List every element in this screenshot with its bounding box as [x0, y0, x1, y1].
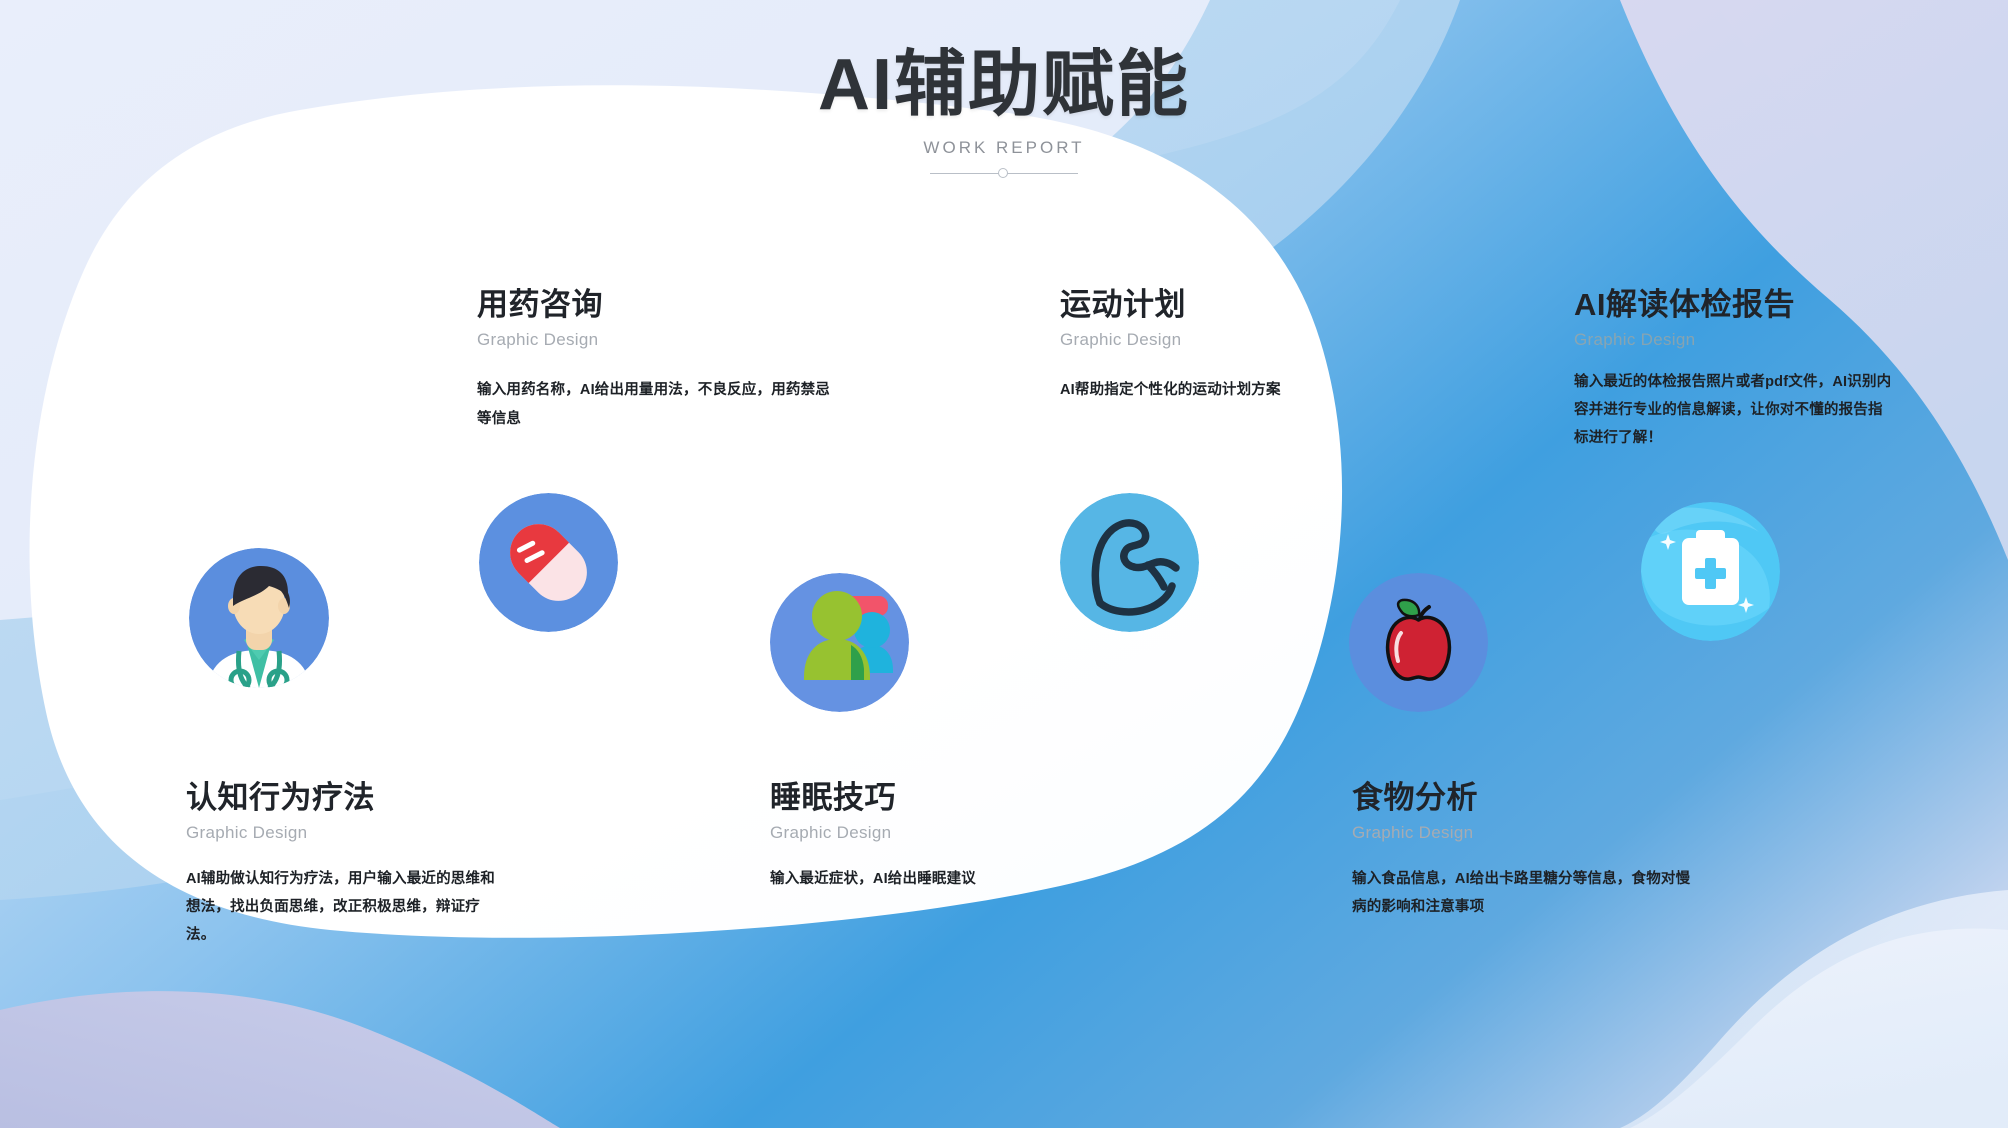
slide-canvas: AI辅助赋能 WORK REPORT [0, 0, 2008, 1128]
medical-clipboard-icon [1641, 502, 1780, 641]
feature-description: 输入用药名称，AI给出用量用法，不良反应，用药禁忌等信息 [477, 376, 837, 434]
feature-sleep-tips: 睡眠技巧 Graphic Design 输入最近症状，AI给出睡眠建议 [770, 780, 1090, 894]
feature-description: AI帮助指定个性化的运动计划方案 [1060, 376, 1360, 405]
page-title: AI辅助赋能 [0, 48, 2008, 124]
feature-cbt-therapy: 认知行为疗法 Graphic Design AI辅助做认知行为疗法，用户输入最近… [186, 780, 506, 949]
feature-title: 用药咨询 [477, 287, 837, 324]
feature-title: 食物分析 [1352, 780, 1702, 817]
slide-header: AI辅助赋能 WORK REPORT [0, 48, 2008, 180]
feature-description: AI辅助做认知行为疗法，用户输入最近的思维和想法，找出负面思维，改正积极思维，辩… [186, 865, 506, 950]
feature-title: 认知行为疗法 [186, 780, 506, 817]
doctor-avatar-icon [189, 548, 329, 688]
feature-ai-health-report: AI解读体检报告 Graphic Design 输入最近的体检报告照片或者pdf… [1574, 287, 1894, 452]
feature-subtitle: Graphic Design [186, 823, 506, 843]
divider-dot-icon [998, 168, 1008, 178]
feature-description: 输入最近的体检报告照片或者pdf文件，AI识别内容并进行专业的信息解读，让你对不… [1574, 368, 1894, 453]
feature-description: 输入最近症状，AI给出睡眠建议 [770, 865, 1090, 894]
title-divider [930, 168, 1078, 180]
blob-bottom-right-2 [1620, 890, 2008, 1128]
feature-title: 睡眠技巧 [770, 780, 1090, 817]
feature-subtitle: Graphic Design [1352, 823, 1702, 843]
feature-medication-consult: 用药咨询 Graphic Design 输入用药名称，AI给出用量用法，不良反应… [477, 287, 837, 434]
page-subtitle: WORK REPORT [0, 138, 2008, 158]
red-apple-icon [1349, 573, 1488, 712]
feature-title: AI解读体检报告 [1574, 287, 1894, 324]
feature-subtitle: Graphic Design [1574, 330, 1894, 350]
blob-bottom-left [0, 991, 560, 1128]
feature-description: 输入食品信息，AI给出卡路里糖分等信息，食物对慢病的影响和注意事项 [1352, 865, 1702, 922]
flexed-bicep-icon [1060, 493, 1199, 632]
feature-exercise-plan: 运动计划 Graphic Design AI帮助指定个性化的运动计划方案 [1060, 287, 1360, 405]
pill-capsule-icon [479, 493, 618, 632]
feature-title: 运动计划 [1060, 287, 1360, 324]
feature-subtitle: Graphic Design [1060, 330, 1360, 350]
two-people-chat-icon [770, 573, 909, 712]
feature-subtitle: Graphic Design [477, 330, 837, 350]
feature-food-analysis: 食物分析 Graphic Design 输入食品信息，AI给出卡路里糖分等信息，… [1352, 780, 1702, 921]
feature-subtitle: Graphic Design [770, 823, 1090, 843]
